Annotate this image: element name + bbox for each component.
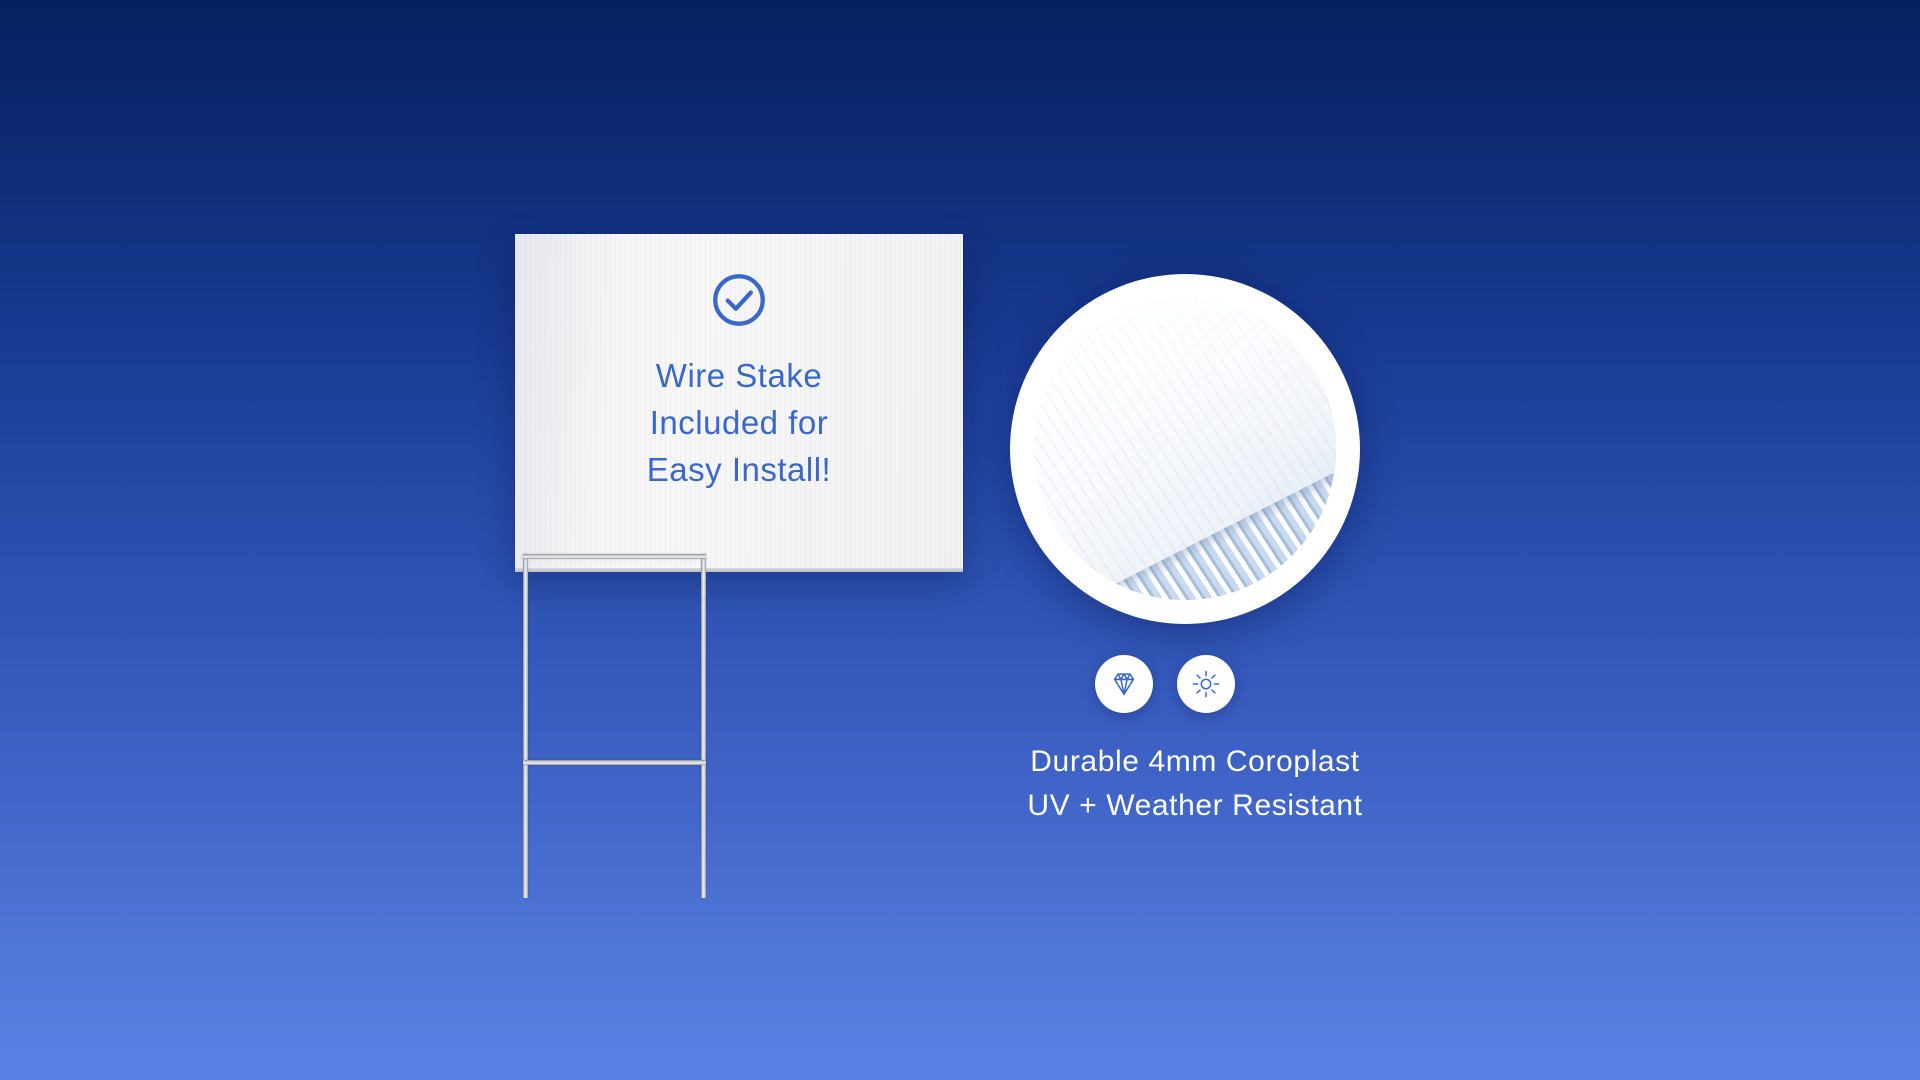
sign-line-1: Wire Stake [647, 352, 831, 399]
stake-leg-left [523, 554, 528, 898]
yard-sign: Wire Stake Included for Easy Install! [515, 234, 963, 568]
caption-line-2: UV + Weather Resistant [965, 784, 1425, 828]
sign-line-2: Included for [647, 399, 831, 446]
sun-icon [1191, 669, 1221, 699]
diamond-icon [1109, 669, 1139, 699]
circle-check-icon [709, 270, 769, 330]
caption-line-1: Durable 4mm Coroplast [965, 740, 1425, 784]
product-feature-banner: Wire Stake Included for Easy Install! [0, 0, 1920, 1080]
feature-badges [1095, 655, 1235, 713]
feature-caption: Durable 4mm Coroplast UV + Weather Resis… [965, 740, 1425, 828]
stake-crossbar-top [523, 554, 706, 559]
sign-message: Wire Stake Included for Easy Install! [647, 352, 831, 493]
sign-content: Wire Stake Included for Easy Install! [515, 234, 963, 568]
badge-uv-resistant [1177, 655, 1235, 713]
coroplast-closeup-photo [1010, 274, 1360, 624]
sign-panel: Wire Stake Included for Easy Install! [515, 234, 963, 568]
stake-crossbar-mid [523, 760, 706, 765]
stake-leg-right [701, 554, 706, 898]
photo-inner [1034, 298, 1336, 600]
sign-line-3: Easy Install! [647, 446, 831, 493]
badge-durable [1095, 655, 1153, 713]
wire-stake [515, 548, 963, 898]
